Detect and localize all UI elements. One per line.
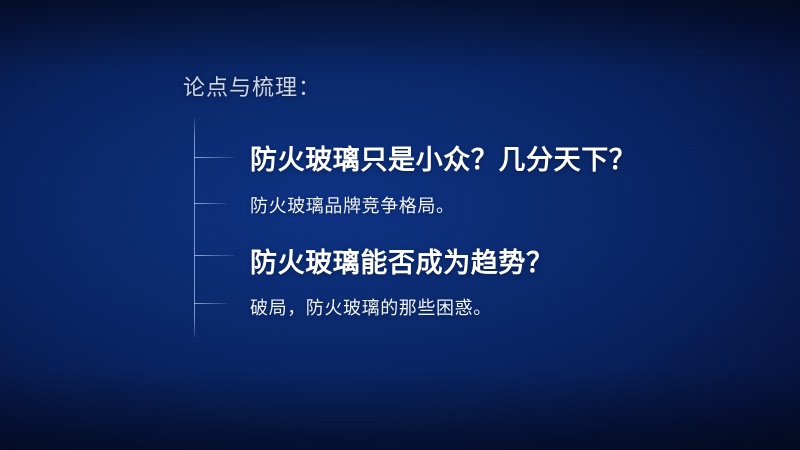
presentation-slide: 论点与梳理： 防火玻璃只是小众？几分天下？ 防火玻璃品牌竞争格局。 防火玻璃能否… (0, 0, 800, 450)
slide-content: 论点与梳理： 防火玻璃只是小众？几分天下？ 防火玻璃品牌竞争格局。 防火玻璃能否… (0, 0, 800, 450)
outline-tick-1 (194, 157, 234, 158)
outline-tick-3 (194, 255, 234, 256)
outline-tick-2 (194, 203, 227, 204)
outline-item-heading-2: 防火玻璃能否成为趋势？ (250, 241, 554, 280)
outline-item-sub-1: 防火玻璃品牌竞争格局。 (250, 192, 455, 218)
outline-tick-4 (194, 303, 227, 304)
slide-title: 论点与梳理： (183, 70, 321, 102)
outline-timeline-rail (194, 118, 195, 337)
outline-item-sub-2: 破局，防火玻璃的那些困惑。 (250, 294, 492, 320)
outline-item-heading-1: 防火玻璃只是小众？几分天下？ (250, 138, 636, 177)
